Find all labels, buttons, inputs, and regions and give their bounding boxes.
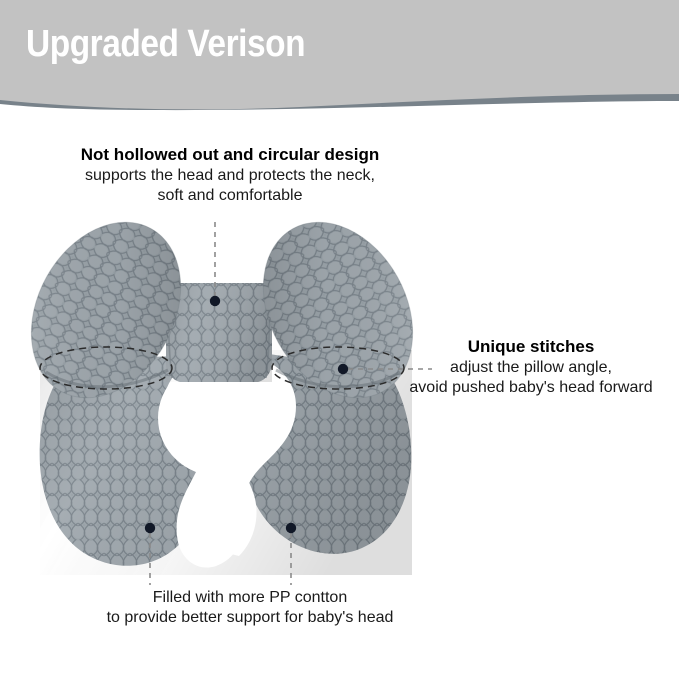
marker-dot-top (210, 296, 220, 306)
callout-bottom: Filled with more PP contton to provide b… (0, 588, 500, 629)
callout-top: Not hollowed out and circular design sup… (0, 144, 460, 207)
marker-dot-bottom-right (286, 523, 296, 533)
callout-top-line1: supports the head and protects the neck, (0, 166, 460, 186)
callout-right-heading: Unique stitches (383, 336, 679, 358)
callout-right-line1: adjust the pillow angle, (383, 358, 679, 378)
callout-top-heading: Not hollowed out and circular design (0, 144, 460, 166)
marker-dot-bottom-left (145, 523, 155, 533)
callout-top-line2: soft and comfortable (0, 186, 460, 206)
callout-bottom-line2: to provide better support for baby's hea… (0, 608, 500, 628)
infographic-page: Upgraded Verison (0, 0, 679, 679)
callout-bottom-line1: Filled with more PP contton (0, 588, 500, 608)
callout-right: Unique stitches adjust the pillow angle,… (383, 336, 679, 399)
callout-right-line2: avoid pushed baby's head forward (383, 378, 679, 398)
marker-dot-right (338, 364, 348, 374)
